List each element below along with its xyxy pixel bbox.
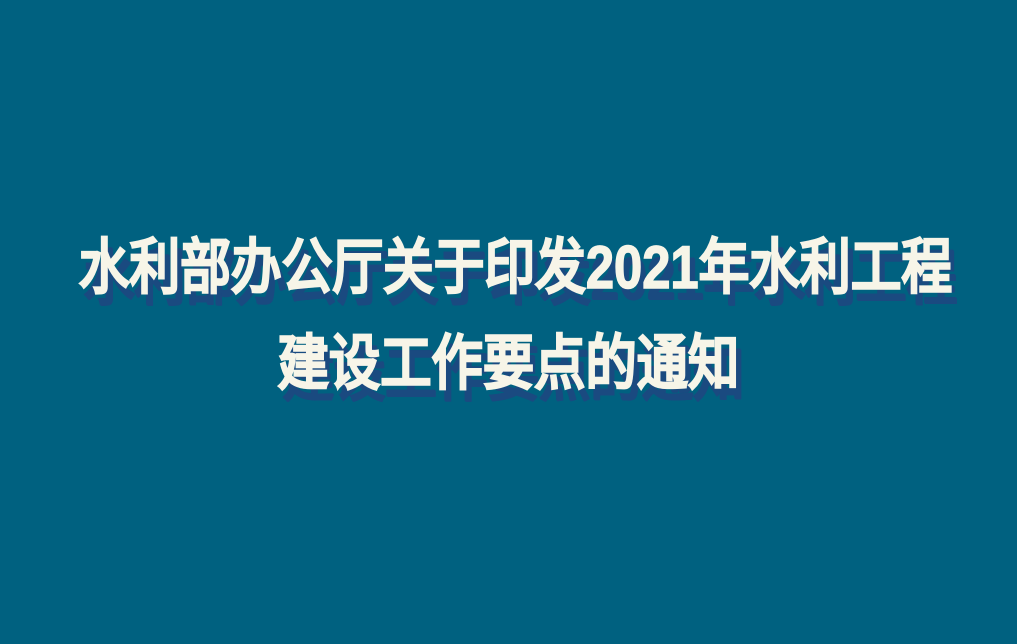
title-line-2: 建设工作要点的通知 <box>74 334 944 394</box>
title-line-1: 水利部办公厅关于印发2021年水利工程 <box>79 238 938 298</box>
page-title: 水利部办公厅关于印发2021年水利工程 建设工作要点的通知 <box>0 238 1017 394</box>
title-card-slide: 水利部办公厅关于印发2021年水利工程 建设工作要点的通知 <box>0 0 1017 644</box>
